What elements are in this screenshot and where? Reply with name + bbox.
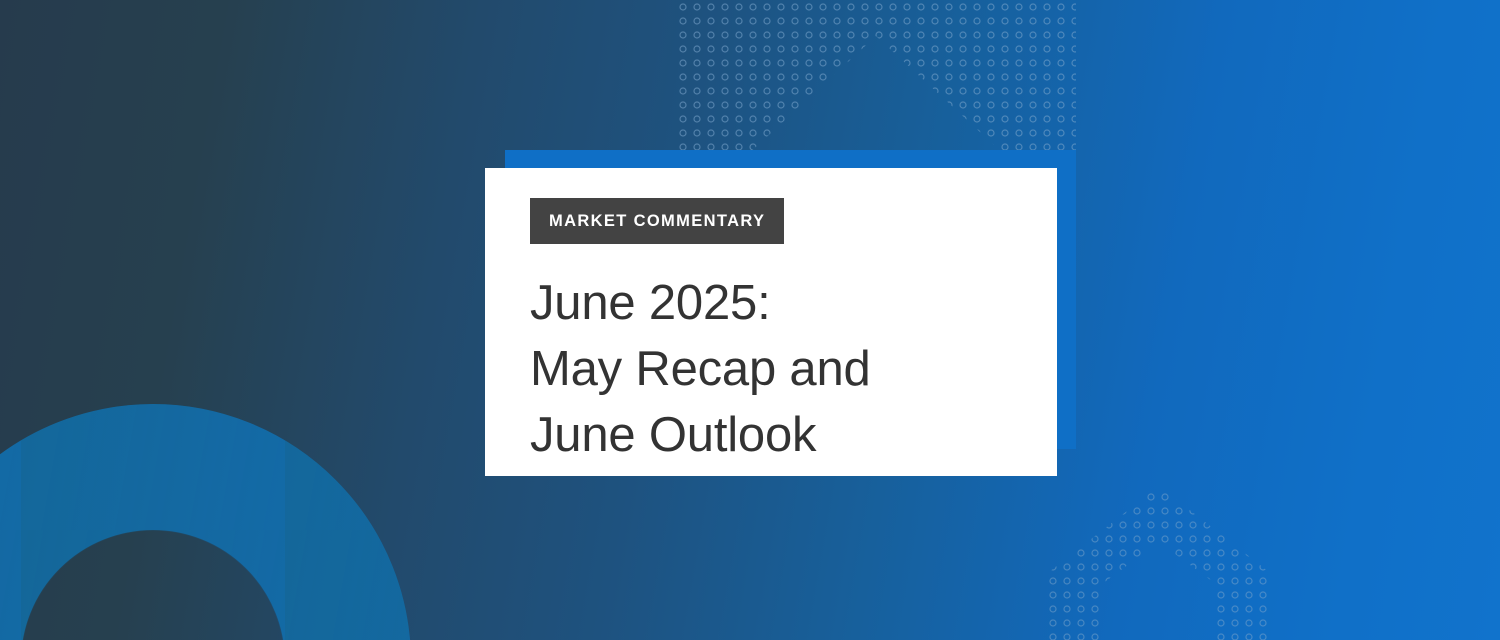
- content-card: MARKET COMMENTARY June 2025: May Recap a…: [485, 168, 1057, 476]
- page-title: June 2025: May Recap and June Outlook: [530, 270, 1009, 468]
- hero-banner: MARKET COMMENTARY June 2025: May Recap a…: [0, 0, 1500, 640]
- category-badge[interactable]: MARKET COMMENTARY: [530, 198, 784, 244]
